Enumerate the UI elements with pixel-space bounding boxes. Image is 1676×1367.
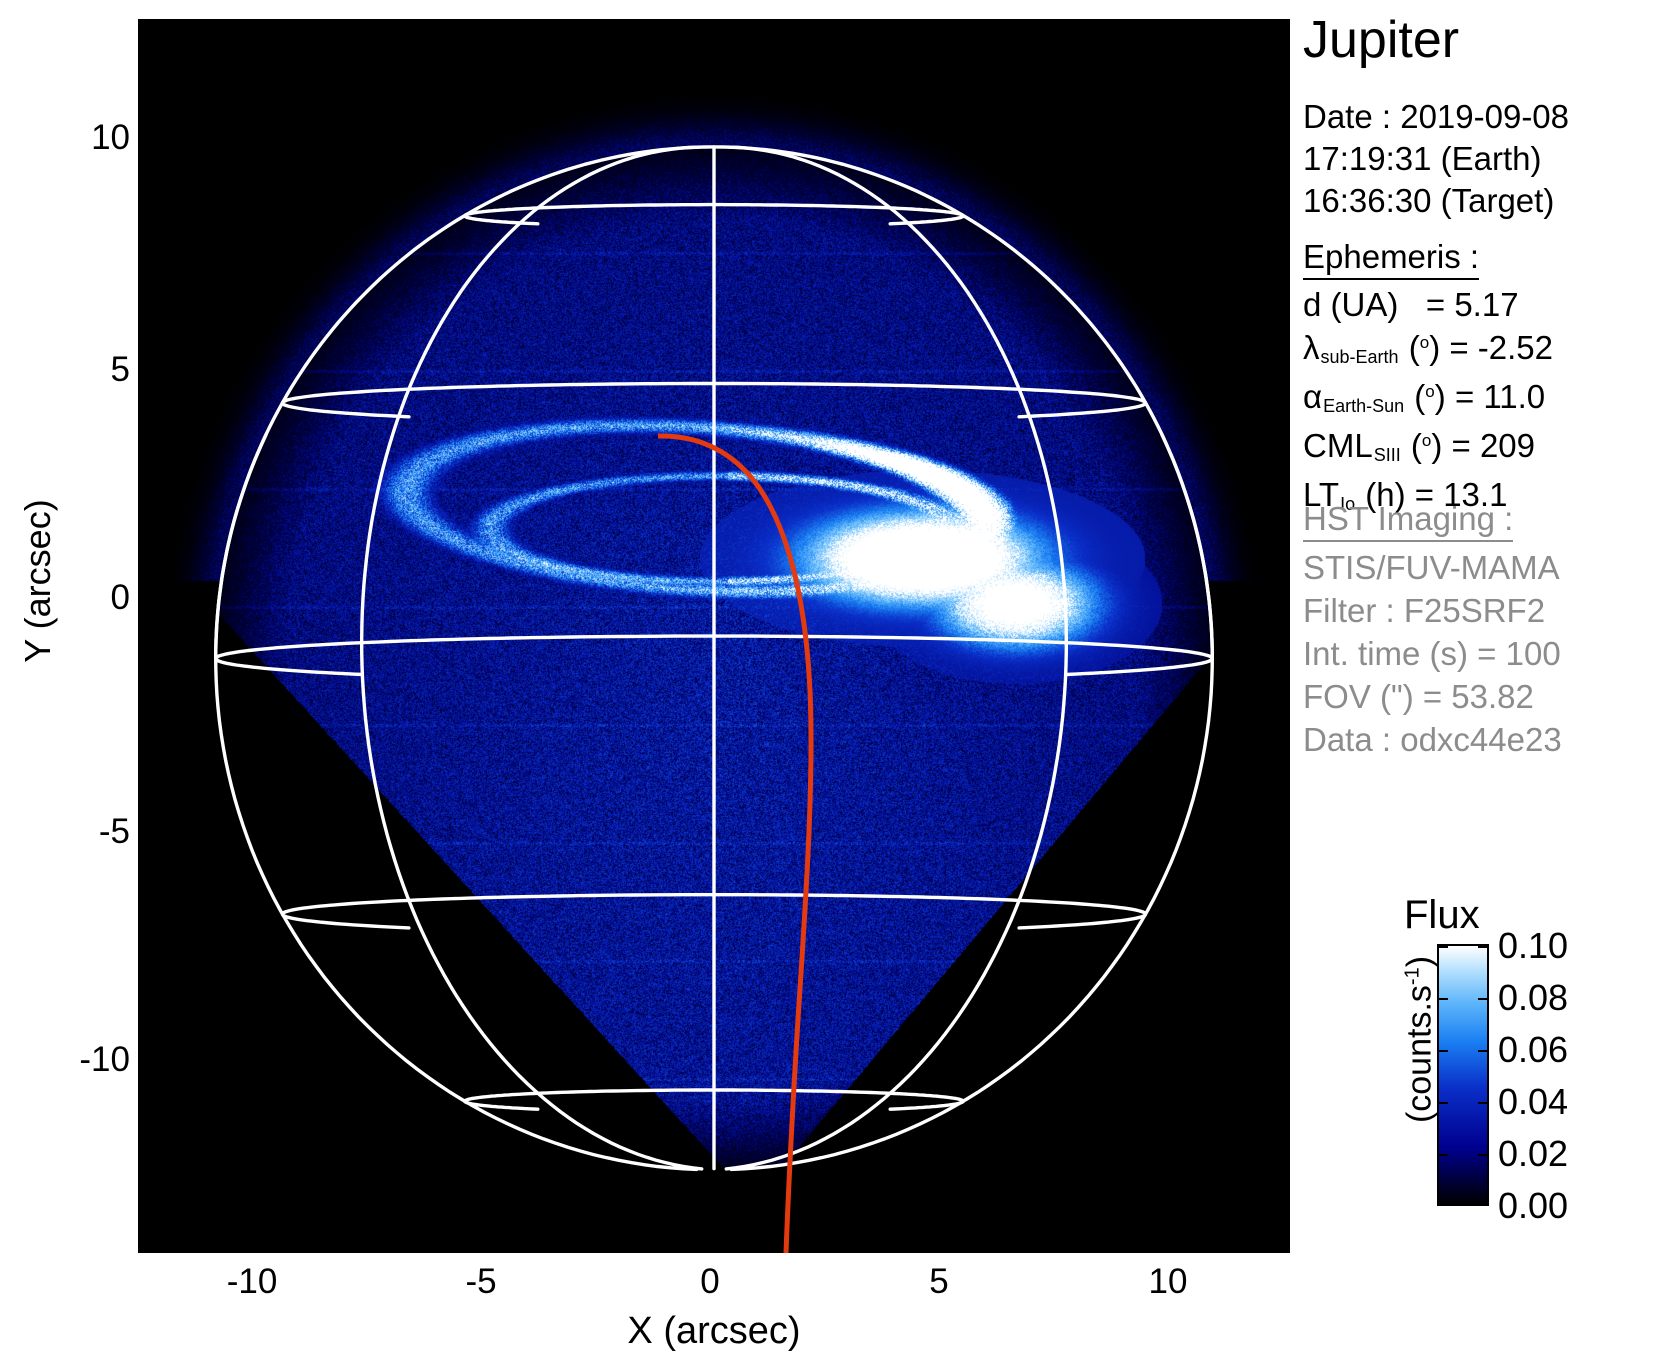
eph-value: = 5.17 — [1426, 286, 1519, 323]
cbar-unit-exponent: -1 — [1402, 967, 1424, 985]
eph-symbol: α — [1303, 378, 1322, 415]
y-tick-label: 10 — [91, 118, 130, 157]
planet-graticule-overlay — [138, 19, 1290, 1253]
ephemeris-row-phase-angle: αEarth-Sun (o) = 11.0 — [1303, 375, 1553, 424]
y-tick-minus10: -10 — [0, 1040, 130, 1080]
ephemeris-heading: Ephemeris : — [1303, 237, 1479, 277]
hst-filter: Filter : F25SRF2 — [1303, 589, 1562, 632]
graticule-line — [362, 147, 702, 1169]
colorbar-axis-label: (counts.s-1) — [1401, 920, 1440, 1160]
cbar-tick-002: 0.02 — [1498, 1136, 1568, 1172]
graticule-line — [731, 435, 1212, 1170]
ephemeris-row-distance: d (UA) = 5.17 — [1303, 283, 1553, 326]
cbar-tickmark — [1478, 998, 1489, 1000]
page-title: Jupiter — [1303, 14, 1459, 66]
x-tick-label: 10 — [1149, 1262, 1188, 1301]
x-axis-label: X (arcsec) — [514, 1310, 914, 1353]
eph-subscript: Earth-Sun — [1322, 396, 1405, 416]
earth-time-line: 17:19:31 (Earth) — [1303, 138, 1569, 180]
eph-subscript: SIII — [1373, 445, 1402, 465]
eph-unit: (o) — [1409, 329, 1440, 366]
x-tick-5: 5 — [879, 1262, 999, 1302]
hst-heading-text: HST Imaging : — [1303, 500, 1513, 542]
cbar-tickmark — [1478, 1102, 1489, 1104]
cbar-tick-010: 0.10 — [1498, 928, 1568, 964]
y-tick-5: 5 — [0, 350, 130, 390]
cbar-tickmark — [1478, 1154, 1489, 1156]
y-tick-label: 0 — [111, 578, 130, 617]
cbar-tickmark — [1478, 1050, 1489, 1052]
y-axis-label: Y (arcsec) — [17, 481, 59, 681]
flux-colorbar — [1437, 944, 1489, 1206]
eph-subscript: sub-Earth — [1320, 347, 1400, 367]
y-tick-label: 5 — [111, 350, 130, 389]
x-tick-label: -10 — [227, 1262, 278, 1301]
cbar-tick-004: 0.04 — [1498, 1084, 1568, 1120]
observation-date-block: Date : 2019-09-08 17:19:31 (Earth) 16:36… — [1303, 96, 1569, 222]
x-tick-label: -5 — [465, 1262, 496, 1301]
hst-int-time: Int. time (s) = 100 — [1303, 632, 1562, 675]
y-tick-minus5: -5 — [0, 812, 130, 852]
cbar-unit-close: ) — [1401, 956, 1439, 967]
x-tick-0: 0 — [650, 1262, 770, 1302]
eph-unit: (o) — [1411, 427, 1442, 464]
ephemeris-row-cml: CMLSIII (o) = 209 — [1303, 424, 1553, 473]
cbar-tick-008: 0.08 — [1498, 980, 1568, 1016]
date-line: Date : 2019-09-08 — [1303, 96, 1569, 138]
eph-symbol: d — [1303, 286, 1321, 323]
graticule-line — [726, 147, 1066, 1169]
eph-symbol: CML — [1303, 427, 1373, 464]
hst-imaging-rows: STIS/FUV-MAMA Filter : F25SRF2 Int. time… — [1303, 546, 1562, 761]
cbar-unit-text: (counts.s — [1401, 985, 1439, 1123]
ephemeris-row-sub-earth-latitude: λsub-Earth (o) = -2.52 — [1303, 326, 1553, 375]
y-tick-label: -5 — [99, 812, 130, 851]
x-tick-label: 0 — [700, 1262, 719, 1301]
y-tick-label: -10 — [79, 1040, 130, 1079]
hst-instrument: STIS/FUV-MAMA — [1303, 546, 1562, 589]
ephemeris-rows: d (UA) = 5.17 λsub-Earth (o) = -2.52 αEa… — [1303, 283, 1553, 522]
x-tick-10: 10 — [1108, 1262, 1228, 1302]
image-plot-area — [138, 19, 1290, 1253]
eph-value: = 209 — [1452, 427, 1536, 464]
hst-imaging-heading: HST Imaging : — [1303, 500, 1513, 538]
cbar-tickmark — [1478, 946, 1489, 948]
x-tick-minus5: -5 — [421, 1262, 541, 1302]
y-tick-10: 10 — [0, 118, 130, 158]
io-footprint-track — [658, 436, 811, 1253]
ephemeris-heading-text: Ephemeris : — [1303, 238, 1479, 280]
x-tick-minus10: -10 — [192, 1262, 312, 1302]
x-tick-label: 5 — [929, 1262, 948, 1301]
target-time-line: 16:36:30 (Target) — [1303, 180, 1569, 222]
cbar-tick-006: 0.06 — [1498, 1032, 1568, 1068]
hst-data-id: Data : odxc44e23 — [1303, 718, 1562, 761]
graticule-line — [216, 435, 697, 1170]
eph-unit: (o) — [1414, 378, 1445, 415]
cbar-tick-000: 0.00 — [1498, 1188, 1568, 1224]
eph-value: = 11.0 — [1455, 378, 1545, 415]
hst-fov: FOV (") = 53.82 — [1303, 675, 1562, 718]
eph-unit: (UA) — [1331, 286, 1399, 323]
eph-value: = -2.52 — [1449, 329, 1553, 366]
eph-symbol: λ — [1303, 329, 1320, 366]
